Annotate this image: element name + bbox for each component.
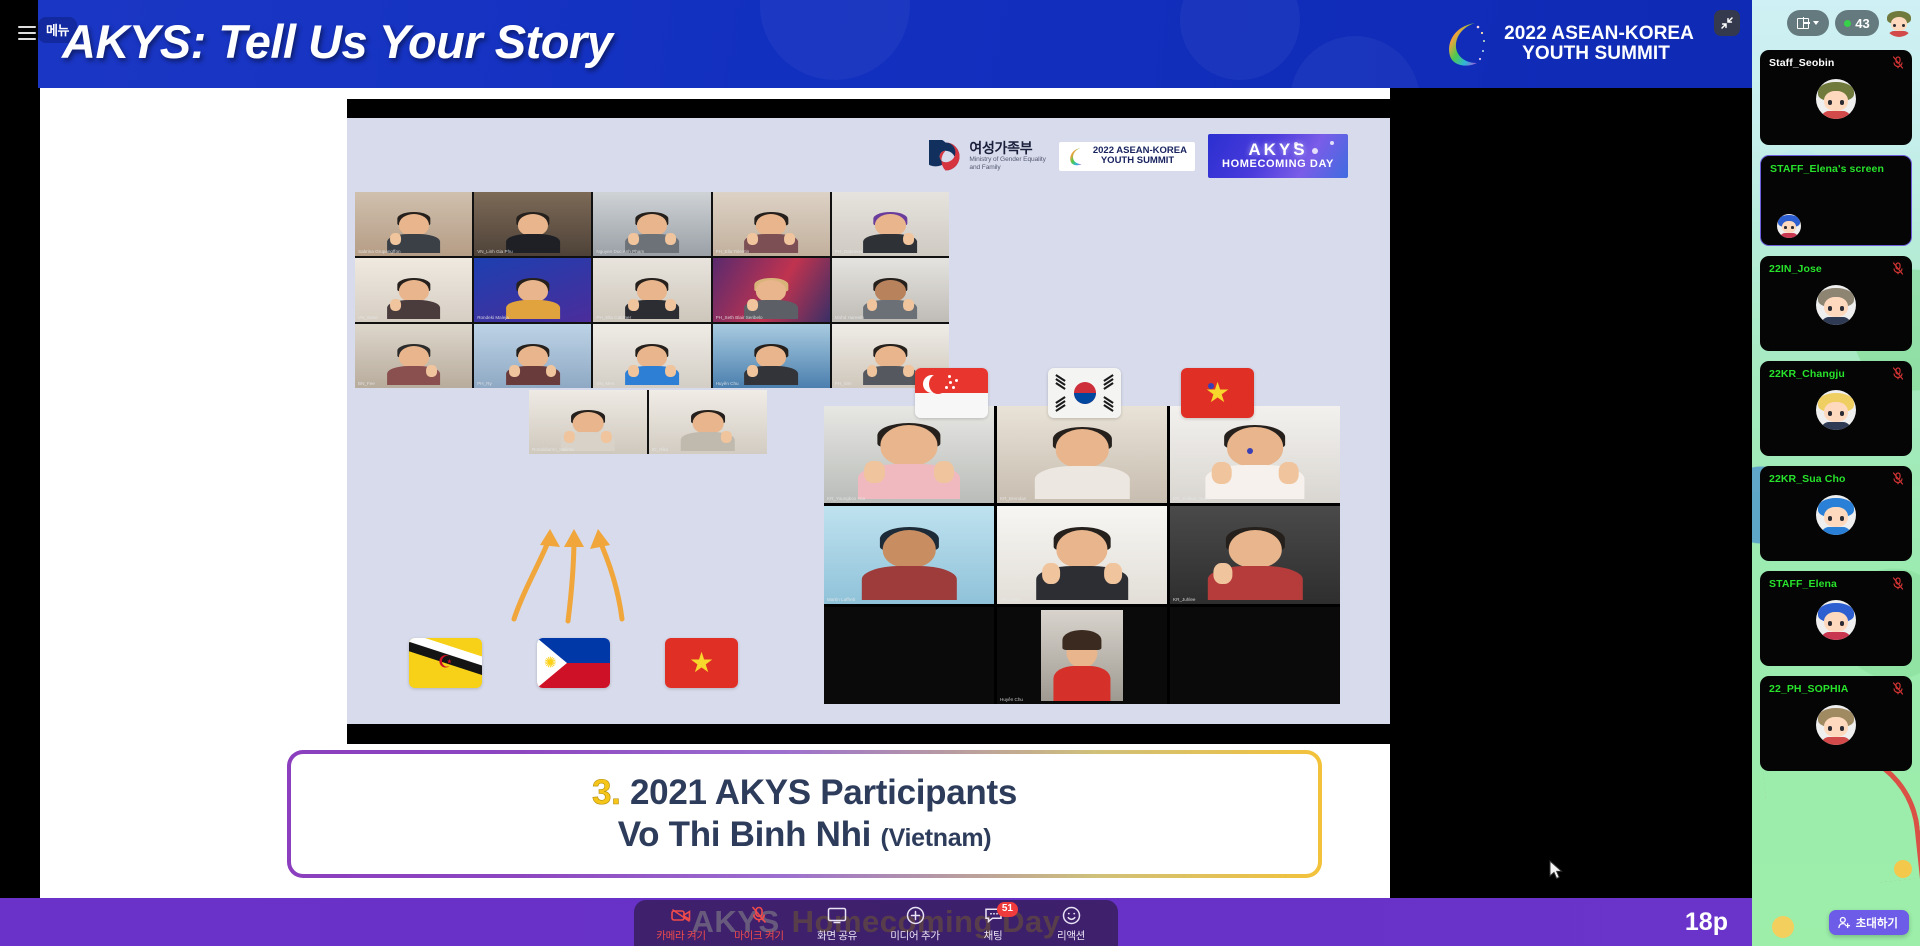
summit-logo-line2: YOUTH SUMMIT	[1504, 44, 1694, 64]
collapse-arrows-icon[interactable]	[1714, 10, 1740, 36]
reaction-label: 리액션	[1057, 928, 1085, 943]
avatar-face	[1885, 9, 1913, 37]
invite-button-label: 초대하기	[1856, 915, 1898, 931]
chat-unread-badge: 51	[997, 902, 1018, 917]
caption-person-country: (Vietnam)	[881, 824, 992, 852]
participant-name: STAFF_Elena's screen	[1770, 163, 1884, 175]
shared-screen-content: 여성가족부 Ministry of Gender Equality and Fa…	[347, 118, 1390, 724]
header-decor-circle	[1180, 0, 1300, 80]
bottom-bar: AKYS Homecoming Day 카메라 켜기	[0, 898, 1752, 946]
caption-title: 2021 AKYS Participants	[630, 773, 1017, 812]
reaction-button[interactable]: 리액션	[1032, 900, 1110, 946]
summit-logo: 2022 ASEAN-KOREA YOUTH SUMMIT	[1441, 18, 1694, 70]
video-tile: KR_Jimkun_Suho	[1170, 406, 1340, 503]
video-tile: Mohd Hareeth	[832, 258, 949, 322]
mic-muted-icon	[1892, 577, 1904, 590]
slide-logo-row: 여성가족부 Ministry of Gender Equality and Fa…	[929, 134, 1348, 178]
video-tile: KR_Brendan	[997, 406, 1167, 503]
layout-grid-icon	[1797, 18, 1809, 29]
video-tile: Nguyen Duc Anh Pham	[593, 192, 710, 256]
chevron-down-icon	[1813, 21, 1819, 25]
flags-row-bottom: ☪ ✺ ★	[409, 638, 738, 688]
video-tile: VN_Lenia	[997, 506, 1167, 603]
avatar	[1816, 285, 1856, 325]
participant-tile[interactable]: 22_PH_SOPHIA	[1760, 676, 1912, 771]
flag-vietnam: ★	[1181, 368, 1254, 418]
avatar	[1816, 79, 1856, 119]
ministry-logo: 여성가족부 Ministry of Gender Equality and Fa…	[929, 140, 1045, 173]
rainbow-crescent-icon	[1067, 146, 1088, 167]
video-tile: PH_Ella Calizner	[593, 258, 710, 322]
mic-toggle-button[interactable]: 마이크 켜기	[720, 900, 798, 946]
participant-tile-screen-share[interactable]: STAFF_Elena's screen	[1760, 155, 1912, 246]
slide-dot	[1247, 448, 1253, 454]
participant-name: 22_PH_SOPHIA	[1769, 683, 1848, 695]
rainbow-crescent-icon	[1441, 18, 1493, 70]
avatar	[1816, 390, 1856, 430]
caption-person-name: Vo Thi Binh Nhi	[618, 815, 871, 854]
video-tile: PH_Gabrieus	[832, 192, 949, 256]
mic-muted-icon	[1892, 56, 1904, 69]
shared-screen-frame: 여성가족부 Ministry of Gender Equality and Fa…	[347, 99, 1390, 744]
mic-muted-icon	[1892, 262, 1904, 275]
menu-zone	[0, 0, 38, 88]
mic-muted-icon	[1892, 472, 1904, 485]
participant-tile[interactable]: 22IN_Jose	[1760, 256, 1912, 351]
sidebar-top-controls: 43	[1752, 0, 1920, 46]
video-tile: PH_Ry	[474, 324, 591, 388]
video-tile: VN_Linh Gia Phu	[474, 192, 591, 256]
meeting-toolbar: 카메라 켜기 마이크 켜기 화면	[634, 900, 1118, 946]
video-tile: Sabrina Grupangffon	[355, 192, 472, 256]
self-avatar[interactable]	[1885, 9, 1913, 37]
participant-tile[interactable]: 22KR_Changju	[1760, 361, 1912, 456]
avatar	[1816, 600, 1856, 640]
page-title: AKYS: Tell Us Your Story	[62, 14, 612, 69]
participant-name: Staff_Seobin	[1769, 57, 1834, 69]
slide-summit-logo: 2022 ASEAN-KOREA YOUTH SUMMIT	[1059, 142, 1195, 171]
sidebar-background-decor	[1894, 860, 1912, 878]
ministry-name-en-2: and Family	[969, 164, 1045, 171]
slide-caption-box: 3. 2021 AKYS Participants Vo Thi Binh Nh…	[287, 750, 1322, 878]
akys-homecoming-logo: AKYS HOMECOMING DAY	[1208, 134, 1348, 178]
meeting-header: 메뉴 AKYS: Tell Us Your Story	[0, 0, 1752, 88]
caption-number: 3.	[592, 773, 621, 812]
zoom-grid-right: KR_Youngkoo Yoo KR_Brendan KR_Jimkun_Suh…	[824, 406, 1340, 704]
avatar	[1777, 214, 1801, 238]
akys-logo-line2: HOMECOMING DAY	[1222, 158, 1334, 172]
caption-line-2: Vo Thi Binh Nhi (Vietnam)	[618, 815, 992, 855]
video-tile: VN_Sone	[355, 258, 472, 322]
participant-tile[interactable]: Staff_Seobin	[1760, 50, 1912, 145]
flag-singapore	[915, 368, 988, 418]
summit-logo-text: 2022 ASEAN-KOREA YOUTH SUMMIT	[1504, 24, 1694, 65]
participants-sidebar: 43 Staff_Seobin STAFF_Elena's	[1752, 0, 1920, 946]
online-status-dot	[1844, 20, 1851, 27]
participant-count-button[interactable]: 43	[1835, 10, 1879, 36]
invite-button[interactable]: 초대하기	[1829, 910, 1909, 935]
avatar	[1816, 705, 1856, 745]
ministry-text: 여성가족부 Ministry of Gender Equality and Fa…	[969, 141, 1045, 171]
screen-share-icon	[827, 906, 847, 925]
video-tile: Ronaldiarno_Halima	[529, 390, 647, 454]
mouse-pointer-icon	[1549, 860, 1563, 880]
camera-off-icon	[671, 906, 691, 925]
plus-circle-icon	[906, 906, 925, 925]
video-tile: Rondeki Maleja	[474, 258, 591, 322]
slide-summit-line2: YOUTH SUMMIT	[1093, 156, 1187, 166]
mic-off-icon	[751, 906, 767, 925]
video-tile: KR_Youngkoo Yoo	[824, 406, 994, 503]
sidebar-background-decor	[1772, 916, 1794, 938]
camera-toggle-button[interactable]: 카메라 켜기	[642, 900, 720, 946]
slide: 여성가족부 Ministry of Gender Equality and Fa…	[40, 88, 1390, 898]
zoom-grid-left-row2: Ronaldiarno_Halima ID_Rika	[529, 390, 767, 454]
participant-tile[interactable]: STAFF_Elena	[1760, 571, 1912, 666]
ministry-name-kr: 여성가족부	[969, 141, 1045, 157]
summit-logo-line1: 2022 ASEAN-KOREA	[1504, 24, 1694, 44]
video-tile: ID_Rika	[649, 390, 767, 454]
page-indicator: 18p	[1685, 898, 1728, 946]
mic-toggle-label: 마이크 켜기	[734, 928, 783, 943]
presentation-stage: 여성가족부 Ministry of Gender Equality and Fa…	[0, 88, 1752, 898]
flags-row-top: ★	[915, 368, 1254, 418]
screen-share-label: 화면 공유	[817, 928, 857, 943]
flag-brunei: ☪	[409, 638, 482, 688]
hamburger-icon[interactable]	[18, 26, 36, 40]
mic-muted-icon	[1892, 682, 1904, 695]
smiley-icon	[1062, 906, 1081, 925]
camera-toggle-label: 카메라 켜기	[656, 928, 705, 943]
mic-muted-icon	[1892, 367, 1904, 380]
slide-canvas: 여성가족부 Ministry of Gender Equality and Fa…	[40, 88, 1390, 898]
ministry-name-en-1: Ministry of Gender Equality	[969, 156, 1045, 163]
flag-vietnam: ★	[665, 638, 738, 688]
video-tile: Huyên Chu	[997, 607, 1167, 704]
akys-logo-line1: AKYS	[1248, 141, 1307, 158]
video-tile: KR_Juhlee	[1170, 506, 1340, 603]
slide-dot	[1208, 383, 1214, 389]
zoom-grid-left: Sabrina Grupangffon VN_Linh Gia Phu Nguy…	[355, 192, 949, 388]
video-tile: PH_Seth Blair Seribelo	[713, 258, 830, 322]
video-tile: BN_Fee	[355, 324, 472, 388]
slide-summit-text: 2022 ASEAN-KOREA YOUTH SUMMIT	[1093, 146, 1187, 167]
screen-root: 메뉴 AKYS: Tell Us Your Story	[0, 0, 1920, 946]
participant-name: 22KR_Changju	[1769, 368, 1845, 380]
participant-tile[interactable]: 22KR_Sua Cho	[1760, 466, 1912, 561]
chat-button[interactable]: 51 채팅	[954, 900, 1032, 946]
screen-share-button[interactable]: 화면 공유	[798, 900, 876, 946]
three-orange-arrows-icon	[502, 523, 672, 633]
participant-count: 43	[1855, 16, 1869, 31]
layout-view-button[interactable]	[1787, 10, 1829, 36]
caption-line-1: 3. 2021 AKYS Participants	[592, 773, 1017, 813]
chat-label: 채팅	[984, 928, 1003, 943]
avatar	[1816, 495, 1856, 535]
participant-name: 22KR_Sua Cho	[1769, 473, 1845, 485]
video-tile: Huyên Chu	[713, 324, 830, 388]
participant-name: STAFF_Elena	[1769, 578, 1837, 590]
video-tile	[824, 607, 994, 704]
main-area: 메뉴 AKYS: Tell Us Your Story	[0, 0, 1752, 946]
participant-name: 22IN_Jose	[1769, 263, 1822, 275]
video-tile: Martin Laffreb	[824, 506, 994, 603]
header-decor-circle	[1290, 36, 1420, 88]
person-add-icon	[1838, 916, 1851, 929]
video-tile	[1170, 607, 1340, 704]
add-media-label: 미디어 추가	[890, 928, 939, 943]
video-tile: PH_Ella Tolentin	[713, 192, 830, 256]
video-tile: VN_Men	[593, 324, 710, 388]
korea-government-taeguk-icon	[929, 140, 962, 173]
add-media-button[interactable]: 미디어 추가	[876, 900, 954, 946]
header-decor-circle	[760, 0, 910, 80]
flag-philippines: ✺	[537, 638, 610, 688]
participant-tile-list: Staff_Seobin STAFF_Elena's screen 22IN_J…	[1760, 50, 1912, 781]
slide-caption-inner: 3. 2021 AKYS Participants Vo Thi Binh Nh…	[291, 754, 1318, 874]
flag-south-korea	[1048, 368, 1121, 418]
